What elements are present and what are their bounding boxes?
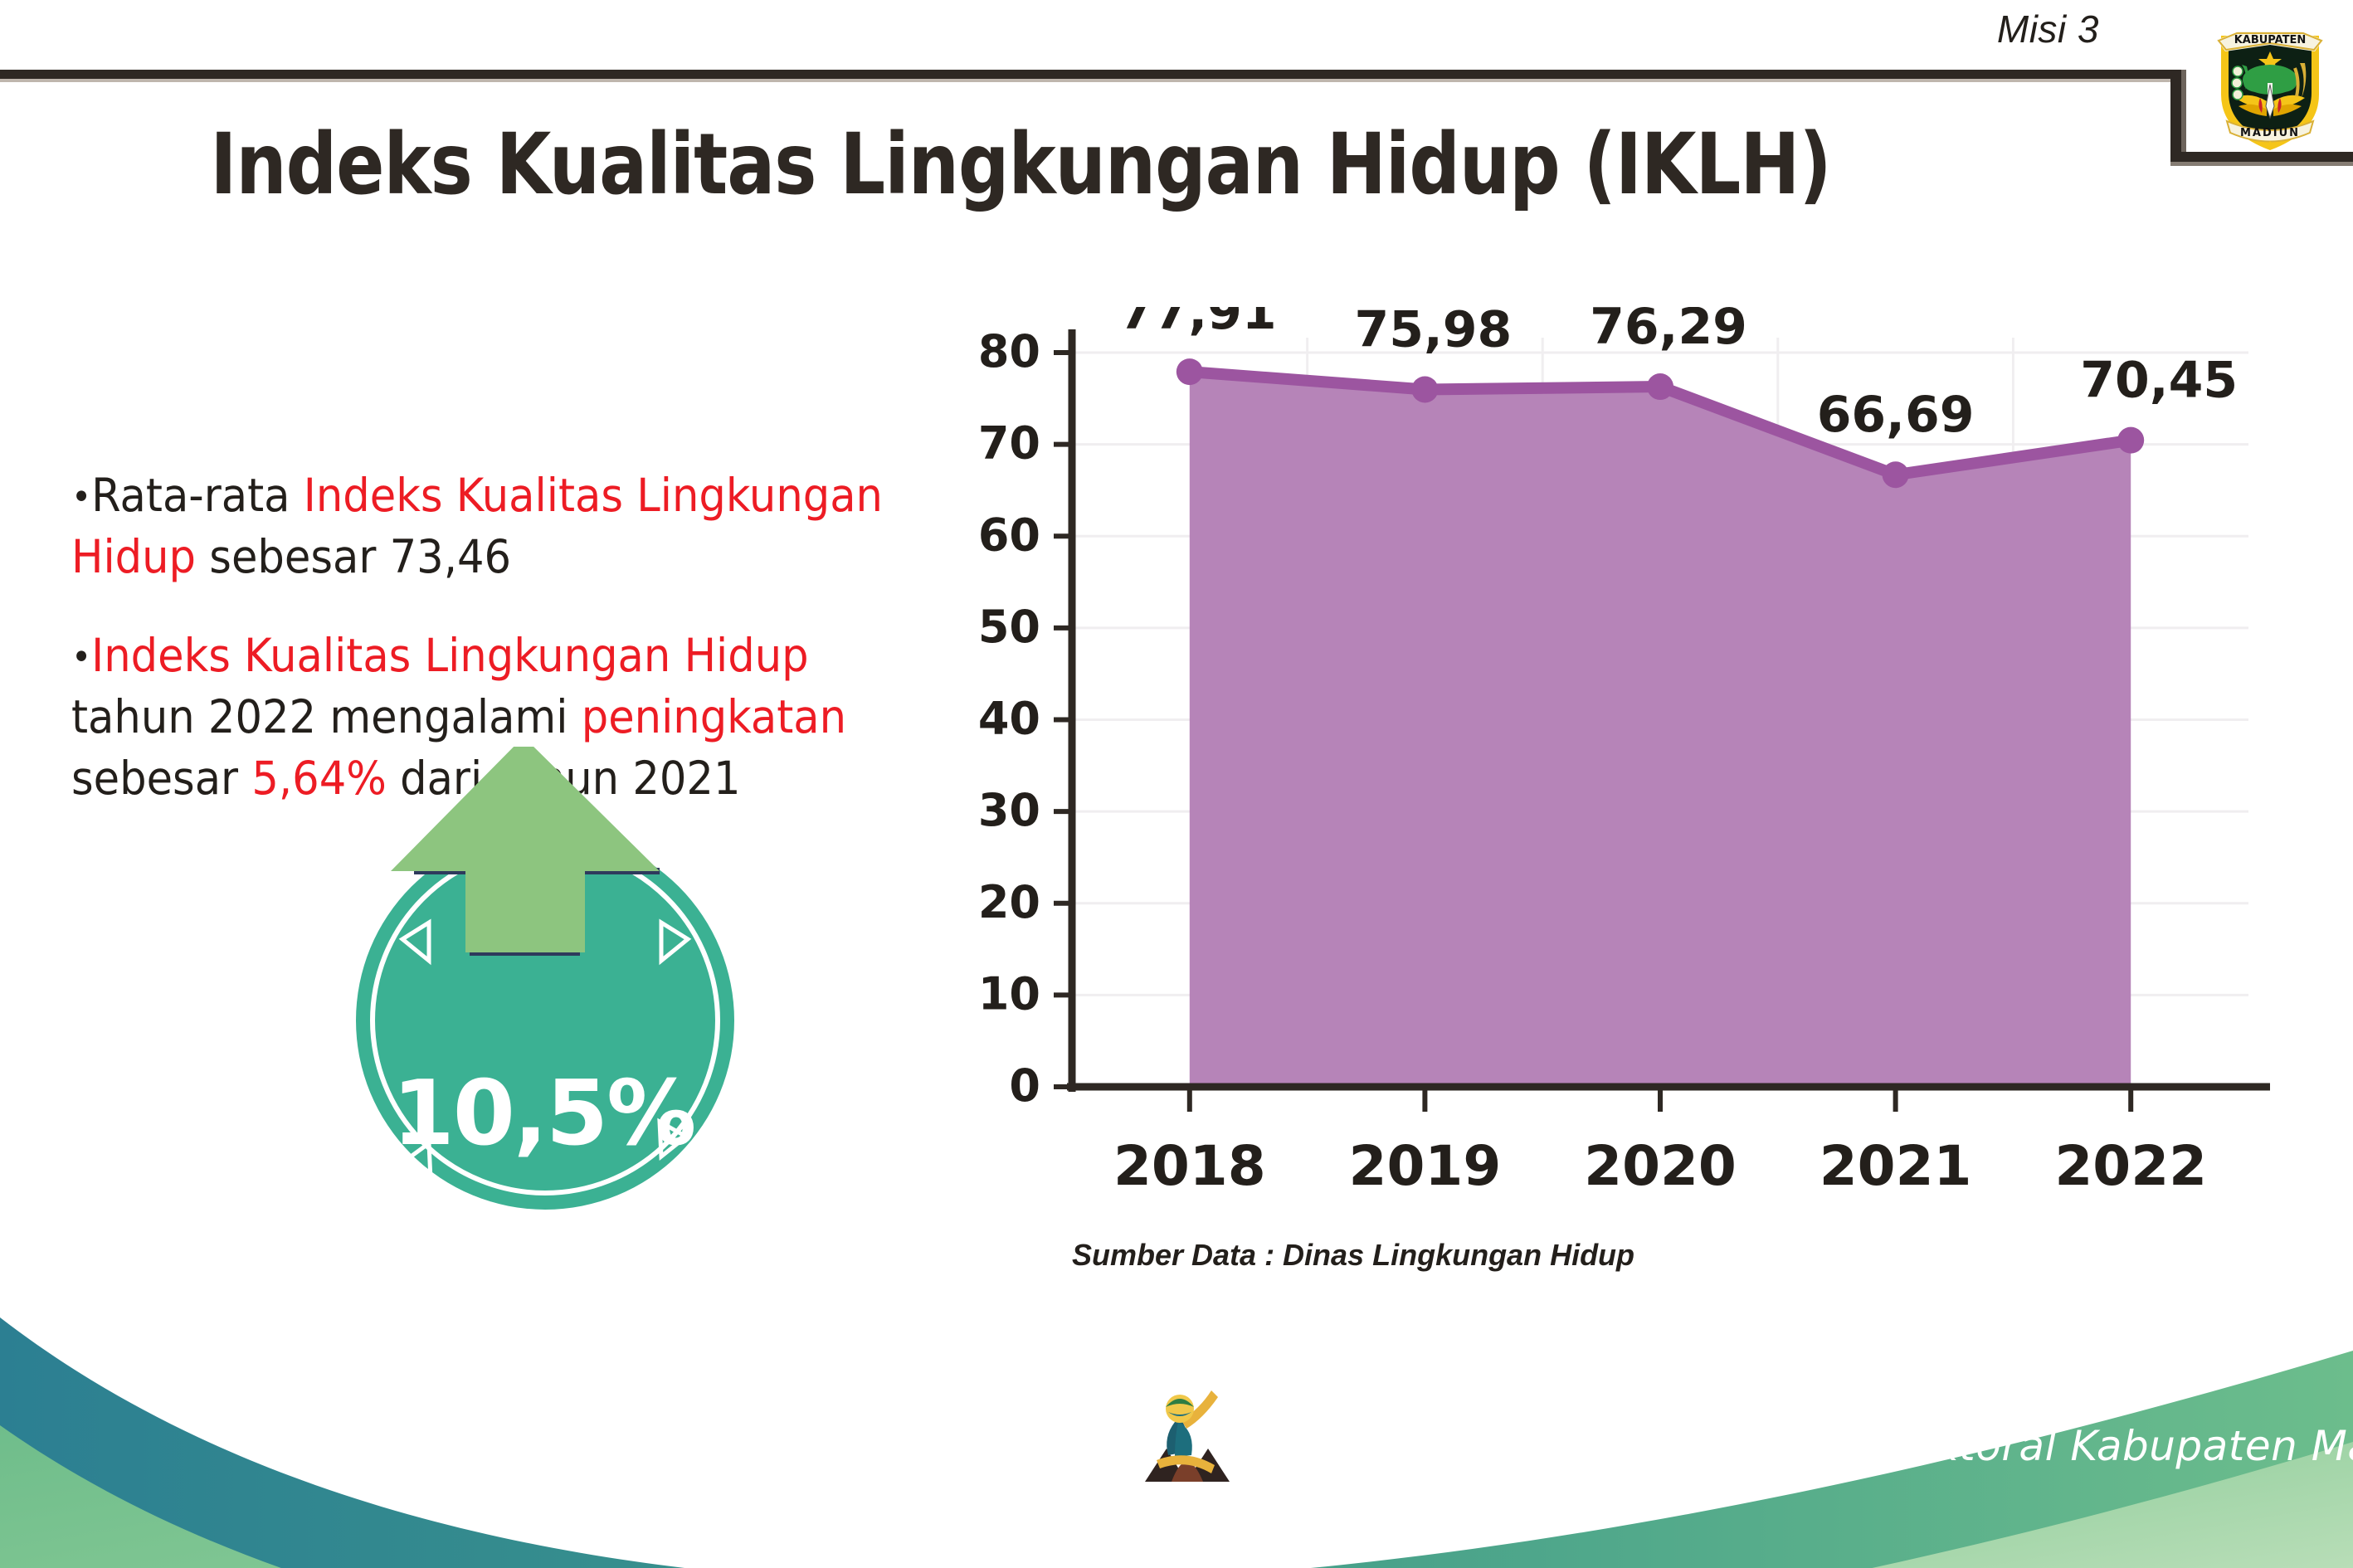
data-point [1411, 376, 1438, 402]
header-bracket-vertical [2170, 70, 2181, 161]
y-tick-label: 60 [979, 509, 1040, 561]
y-tick-label: 70 [979, 417, 1040, 470]
area-fill [1190, 372, 2131, 1087]
x-tick-label: 2018 [1113, 1134, 1266, 1186]
data-point [1883, 461, 1909, 488]
kabupaten-madiun-emblem-icon: KABUPATEN MADIUN [2209, 15, 2331, 153]
statistics-figure-logo-icon [1138, 1372, 1235, 1488]
data-point [2117, 427, 2144, 454]
x-tick-label: 2019 [1349, 1134, 1502, 1186]
misi-label: Misi 3 [1997, 7, 2099, 51]
emblem-bottom-text: MADIUN [2240, 127, 2300, 139]
data-label: 76,29 [1590, 307, 1747, 356]
insight-item-average: •Rata-rata Indeks Kualitas Lingkungan Hi… [71, 465, 936, 588]
y-tick-label: 10 [979, 967, 1040, 1020]
data-point [1176, 358, 1203, 385]
footer-text: Media Infografis Data Statistik Sektoral… [1228, 1422, 2353, 1470]
insight-text-1c: sebesar 73,46 [196, 530, 511, 583]
slide-root: Misi 3 [0, 0, 2353, 1568]
data-label: 66,69 [1817, 386, 1975, 444]
y-tick-label: 50 [979, 601, 1040, 653]
bullet-marker: • [71, 476, 91, 519]
insight-text-2b: tahun 2022 mengalami [71, 690, 582, 743]
header-bracket-bottom [2170, 152, 2353, 162]
insight-text-2d: sebesar [71, 752, 251, 805]
emblem-top-text: KABUPATEN [2234, 34, 2307, 46]
iklh-area-chart: 010203040506070802018201920202021202277,… [979, 307, 2273, 1186]
page-title: Indeks Kualitas Lingkungan Hidup (IKLH) [0, 116, 2041, 214]
insight-text-2c: peningkatan [582, 690, 846, 743]
y-tick-label: 80 [979, 325, 1040, 377]
x-tick-label: 2021 [1820, 1134, 1972, 1186]
insight-text-2a: Indeks Kualitas Lingkungan Hidup [91, 629, 808, 682]
growth-badge-value: 10,5% [328, 1062, 759, 1166]
x-tick-label: 2022 [2054, 1134, 2207, 1186]
footer-band: Media Infografis Data Statistik Sektoral… [0, 1220, 2353, 1568]
y-tick-label: 40 [979, 693, 1040, 745]
data-point [1647, 373, 1673, 400]
y-tick-label: 20 [979, 876, 1040, 928]
data-label: 70,45 [2080, 352, 2238, 410]
header-rule [0, 70, 2177, 79]
bullet-marker: • [71, 636, 91, 679]
header-rule-shadow [0, 79, 2177, 82]
y-tick-label: 0 [1009, 1059, 1040, 1112]
y-tick-label: 30 [979, 784, 1040, 836]
insight-text-1a: Rata-rata [91, 469, 304, 522]
data-label: 75,98 [1355, 307, 1513, 358]
x-tick-label: 2020 [1584, 1134, 1737, 1186]
data-label: 77,91 [1119, 307, 1277, 341]
growth-badge: 10,5% [328, 747, 759, 1211]
